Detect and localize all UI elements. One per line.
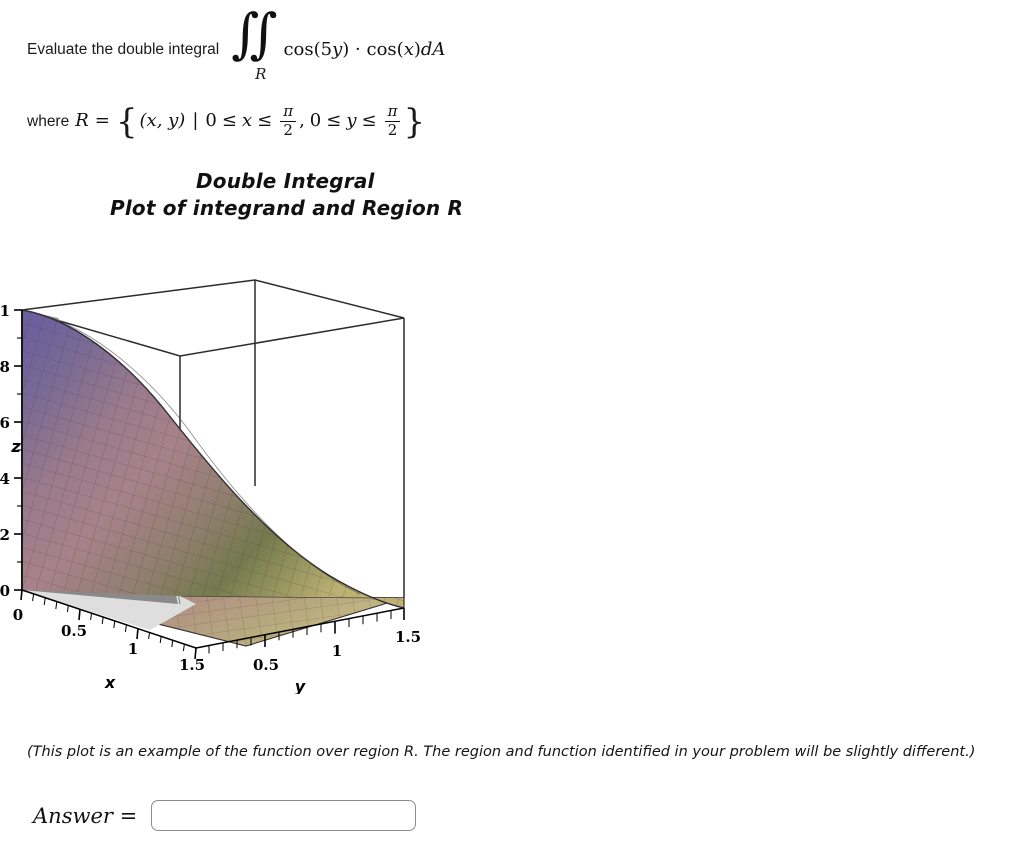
z-axis-label: z — [10, 437, 21, 456]
x-tick-label-15: 1.5 — [179, 656, 205, 674]
z-tick-label-1: 1 — [0, 302, 10, 320]
y-tick-label-15: 1.5 — [395, 628, 421, 646]
answer-input[interactable] — [151, 800, 416, 831]
x-upper-numerator: π — [280, 104, 296, 121]
prompt-prefix-text: Evaluate the double integral — [27, 42, 219, 58]
integrand-var-x: x — [404, 39, 414, 60]
z-tick-label-06: 0.6 — [0, 414, 10, 432]
integrand-expression: cos(5y) · cos(x)dA — [283, 41, 445, 59]
y-tick-label-1: 1 — [332, 642, 342, 660]
surface-plot-svg: 1 0.8 0.6 0.4 0.2 0 z — [0, 274, 560, 694]
y-tick-label-05: 0.5 — [253, 656, 279, 674]
y-relation-1: ≤ — [326, 112, 341, 130]
x-relation-2: ≤ — [257, 112, 272, 130]
z-tick-label-0: 0 — [0, 582, 10, 600]
answer-label: Answer = — [33, 804, 137, 828]
double-integral-symbol: ∫ ∫ R — [231, 22, 277, 78]
plot-block: Double Integral Plot of integrand and Re… — [0, 168, 1024, 694]
z-axis: 1 0.8 0.6 0.4 0.2 0 z — [0, 302, 22, 600]
integral-subscript: R — [255, 67, 266, 82]
integrand-differential: dA — [421, 39, 446, 60]
set-close-brace: } — [403, 107, 425, 137]
y-lower-bound: 0 — [310, 112, 321, 130]
set-tuple: (x, y) — [140, 112, 186, 130]
integrand-close-paren-2: ) — [414, 39, 421, 60]
set-open-brace: { — [116, 107, 138, 137]
z-tick-label-04: 0.4 — [0, 470, 10, 488]
surface-plot-figure: 1 0.8 0.6 0.4 0.2 0 z — [0, 274, 560, 694]
region-definition-line: where R = { (x, y) | 0 ≤ x ≤ π 2 , 0 ≤ y… — [27, 104, 987, 139]
answer-row: Answer = — [33, 800, 416, 831]
z-tick-label-02: 0.2 — [0, 526, 10, 544]
y-variable: y — [346, 112, 356, 130]
plot-disclaimer-note: (This plot is an example of the function… — [27, 742, 987, 763]
where-label: where — [27, 114, 69, 130]
x-lower-bound: 0 — [205, 112, 216, 130]
integrand-close-paren-1: ) — [342, 39, 349, 60]
integral-prompt-line: Evaluate the double integral ∫ ∫ R cos(5… — [27, 22, 987, 78]
plot-title-line-2: Plot of integrand and Region R — [110, 195, 530, 222]
plot-title: Double Integral Plot of integrand and Re… — [0, 168, 530, 222]
set-such-that-bar: | — [192, 112, 198, 130]
x-tick-label-0: 0 — [13, 606, 23, 624]
y-axis-label: y — [295, 677, 306, 694]
integrand-dot-operator: · — [355, 39, 361, 60]
integrand-cos-5y-prefix: cos(5 — [283, 39, 332, 60]
z-tick-label-08: 0.8 — [0, 358, 10, 376]
integrand-var-y: y — [332, 39, 342, 60]
x-upper-denominator: 2 — [280, 121, 296, 139]
integral-sign-inner: ∫ — [249, 12, 277, 56]
integrand-cos-x-prefix: cos( — [367, 39, 404, 60]
surface-mesh — [22, 310, 404, 608]
x-tick-label-05: 0.5 — [61, 622, 87, 640]
problem-statement: Evaluate the double integral ∫ ∫ R cos(5… — [27, 22, 987, 139]
region-symbol: R — [75, 112, 89, 130]
x-tick-label-1: 1 — [128, 640, 138, 658]
region-equals-sign: = — [95, 112, 110, 130]
bounds-comma: , — [299, 112, 305, 130]
x-variable: x — [242, 112, 252, 130]
y-upper-bound-fraction: π 2 — [385, 104, 401, 139]
surface-grid-lines — [22, 310, 404, 608]
y-upper-numerator: π — [385, 104, 401, 121]
x-axis-label: x — [104, 673, 116, 692]
x-relation-1: ≤ — [222, 112, 237, 130]
y-upper-denominator: 2 — [385, 121, 401, 139]
x-upper-bound-fraction: π 2 — [280, 104, 296, 139]
y-relation-2: ≤ — [362, 112, 377, 130]
plot-title-line-1: Double Integral — [110, 168, 530, 195]
